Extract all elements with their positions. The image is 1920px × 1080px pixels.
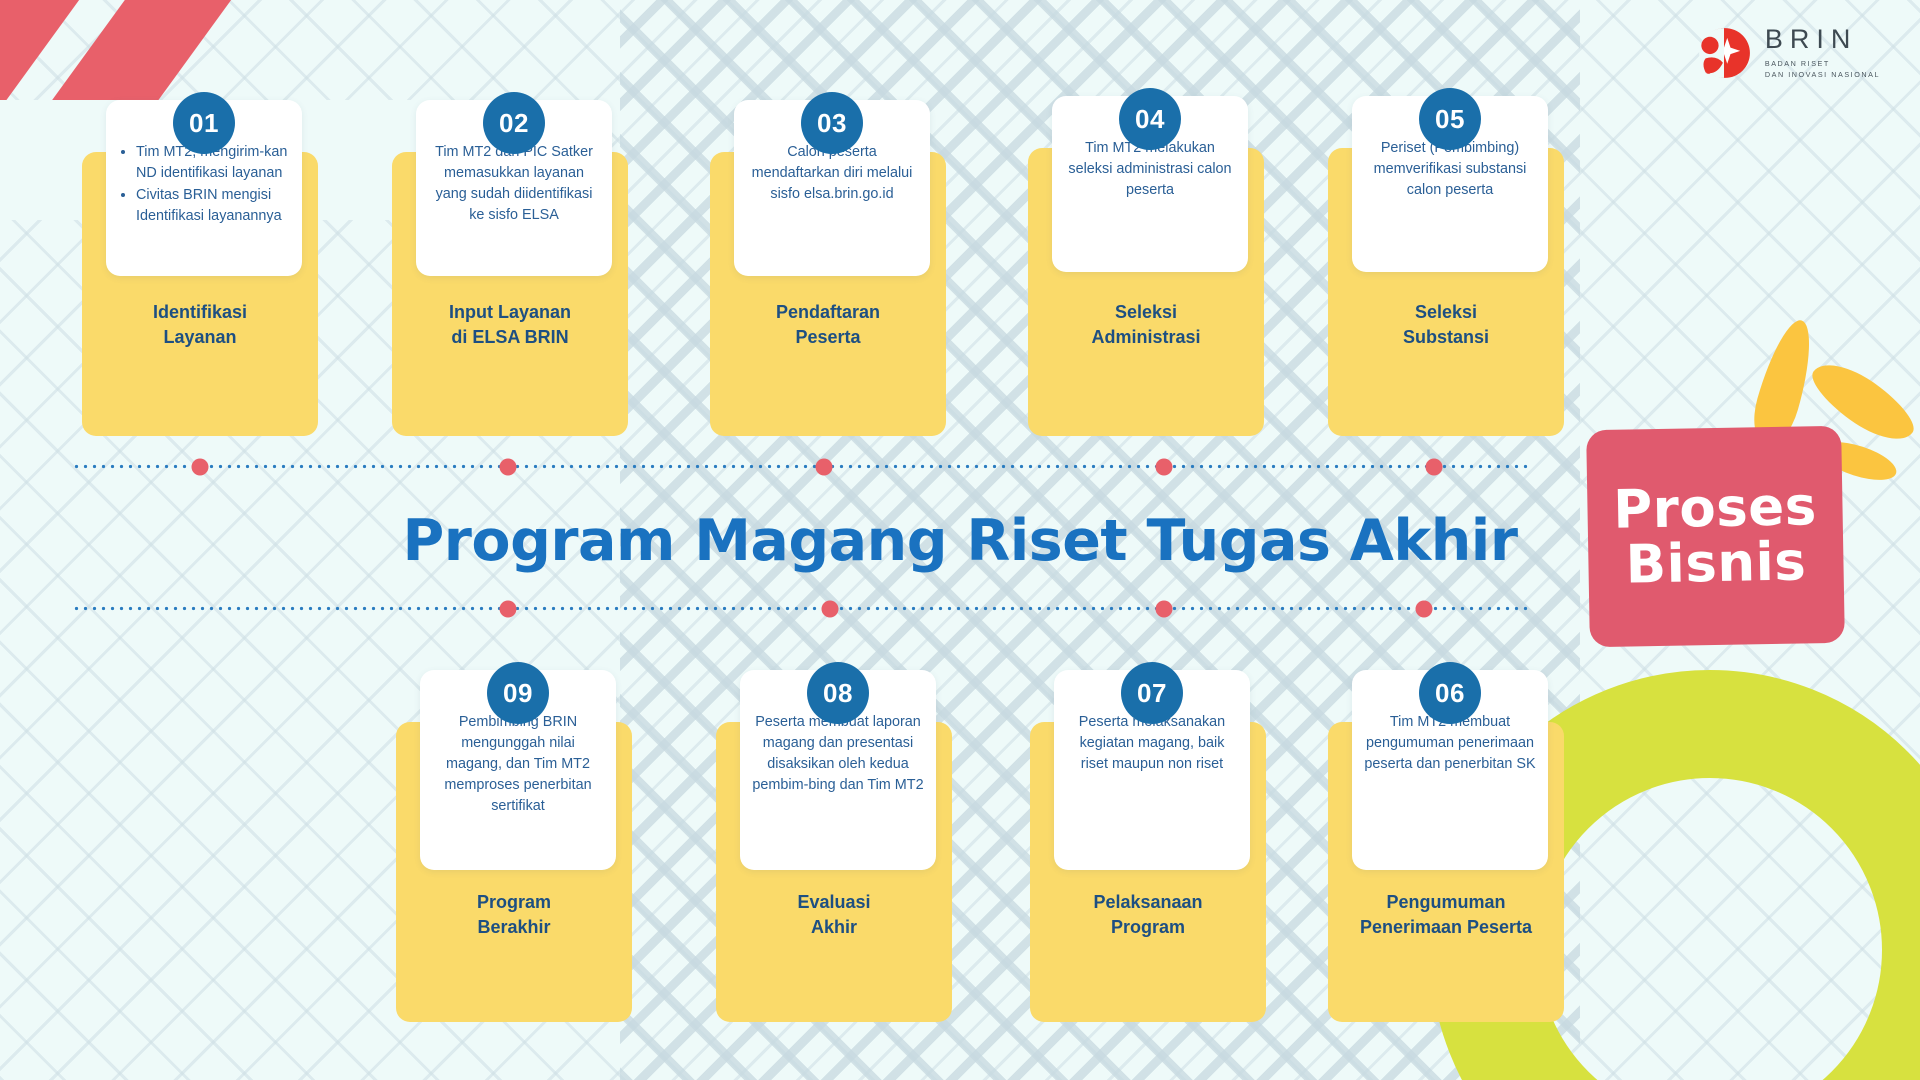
brin-wordmark: BRIN bbox=[1765, 26, 1880, 53]
card-white-panel: 03 Calon peserta mendaftarkan diri melal… bbox=[734, 100, 930, 276]
timeline-bottom-dot-1 bbox=[500, 601, 517, 618]
step-number-badge: 08 bbox=[807, 662, 869, 724]
badge-line1: Proses bbox=[1613, 481, 1817, 539]
step-title-line2: Akhir bbox=[716, 915, 952, 940]
step-number-badge: 06 bbox=[1419, 662, 1481, 724]
step-number-badge: 02 bbox=[483, 92, 545, 154]
step-number-badge: 07 bbox=[1121, 662, 1183, 724]
step-title-line2: Berakhir bbox=[396, 915, 632, 940]
step-title: Seleksi Administrasi bbox=[1028, 300, 1264, 350]
step-title-line1: Evaluasi bbox=[716, 890, 952, 915]
timeline-bottom-dot-2 bbox=[822, 601, 839, 618]
step-title-line1: Pendaftaran bbox=[710, 300, 946, 325]
step-title-line1: Pengumuman bbox=[1328, 890, 1564, 915]
brin-logo-icon bbox=[1697, 26, 1751, 80]
step-number-badge: 03 bbox=[801, 92, 863, 154]
timeline-top-dot-3 bbox=[816, 459, 833, 476]
step-title-line2: Administrasi bbox=[1028, 325, 1264, 350]
step-title: Pelaksanaan Program bbox=[1030, 890, 1266, 940]
step-bullet: Civitas BRIN mengisi Identifikasi layana… bbox=[136, 185, 290, 227]
step-title: Identifikasi Layanan bbox=[82, 300, 318, 350]
proses-bisnis-badge: Proses Bisnis bbox=[1586, 426, 1845, 647]
timeline-bottom-dot-4 bbox=[1416, 601, 1433, 618]
step-title: Evaluasi Akhir bbox=[716, 890, 952, 940]
step-number-badge: 01 bbox=[173, 92, 235, 154]
step-title: Seleksi Substansi bbox=[1328, 300, 1564, 350]
step-title: Input Layanan di ELSA BRIN bbox=[392, 300, 628, 350]
step-title-line2: Program bbox=[1030, 915, 1266, 940]
step-title-line1: Input Layanan bbox=[392, 300, 628, 325]
step-title-line1: Pelaksanaan bbox=[1030, 890, 1266, 915]
step-number-badge: 04 bbox=[1119, 88, 1181, 150]
step-title-line2: Layanan bbox=[82, 325, 318, 350]
step-title: Program Berakhir bbox=[396, 890, 632, 940]
step-body: Pembimbing BRIN mengunggah nilai magang,… bbox=[432, 712, 604, 816]
timeline-top-dotted-line bbox=[72, 464, 1528, 469]
card-white-panel: 08 Peserta membuat laporan magang dan pr… bbox=[740, 670, 936, 870]
step-number-badge: 09 bbox=[487, 662, 549, 724]
step-body: Tim MT2 dan PIC Satker memasukkan layana… bbox=[428, 142, 600, 226]
card-white-panel: 02 Tim MT2 dan PIC Satker memasukkan lay… bbox=[416, 100, 612, 276]
step-title-line1: Program bbox=[396, 890, 632, 915]
step-title-line1: Seleksi bbox=[1028, 300, 1264, 325]
card-white-panel: 01 Tim MT2, mengirim-kan ND identifikasi… bbox=[106, 100, 302, 276]
step-body: Peserta membuat laporan magang dan prese… bbox=[752, 712, 924, 796]
step-title-line2: Penerimaan Peserta bbox=[1328, 915, 1564, 940]
step-title-line2: di ELSA BRIN bbox=[392, 325, 628, 350]
badge-line2: Bisnis bbox=[1625, 535, 1806, 592]
step-title: Pengumuman Penerimaan Peserta bbox=[1328, 890, 1564, 940]
card-white-panel: 09 Pembimbing BRIN mengunggah nilai maga… bbox=[420, 670, 616, 870]
card-white-panel: 06 Tim MT2 membuat pengumuman penerimaan… bbox=[1352, 670, 1548, 870]
brin-logo: BRIN BADAN RISET DAN INOVASI NASIONAL bbox=[1697, 26, 1880, 80]
step-title-line1: Seleksi bbox=[1328, 300, 1564, 325]
step-title-line2: Substansi bbox=[1328, 325, 1564, 350]
card-white-panel: 05 Periset (Pembimbing) memverifikasi su… bbox=[1352, 96, 1548, 272]
step-title-line2: Peserta bbox=[710, 325, 946, 350]
timeline-bottom-dotted-line bbox=[72, 606, 1528, 611]
timeline-bottom-dot-3 bbox=[1156, 601, 1173, 618]
timeline-top-dot-4 bbox=[1156, 459, 1173, 476]
step-number-badge: 05 bbox=[1419, 88, 1481, 150]
step-title-line1: Identifikasi bbox=[82, 300, 318, 325]
step-body: Tim MT2, mengirim-kan ND identifikasi la… bbox=[118, 142, 290, 227]
timeline-top-dot-1 bbox=[192, 459, 209, 476]
timeline-top-dot-5 bbox=[1426, 459, 1443, 476]
brin-subtitle-line2: DAN INOVASI NASIONAL bbox=[1765, 70, 1880, 80]
card-white-panel: 04 Tim MT2 melakukan seleksi administras… bbox=[1052, 96, 1248, 272]
timeline-top-dot-2 bbox=[500, 459, 517, 476]
step-title: Pendaftaran Peserta bbox=[710, 300, 946, 350]
brin-subtitle-line1: BADAN RISET bbox=[1765, 59, 1880, 69]
card-white-panel: 07 Peserta melaksanakan kegiatan magang,… bbox=[1054, 670, 1250, 870]
